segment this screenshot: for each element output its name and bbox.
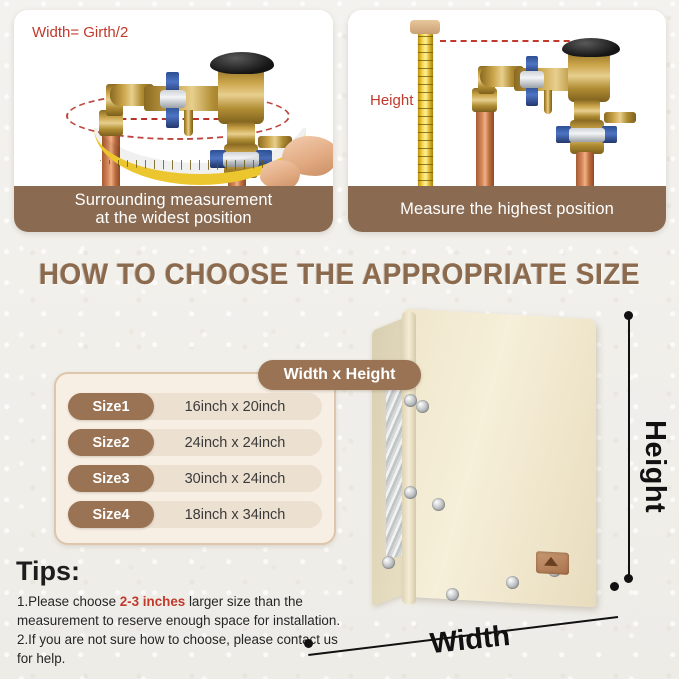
grommet — [432, 498, 445, 511]
height-panel-caption: Measure the highest position — [348, 186, 666, 232]
brass-union-nut — [574, 100, 600, 122]
blue-handle-bottom — [526, 86, 538, 106]
width-caption-line1: Surrounding measurement — [75, 191, 273, 209]
width-panel-caption: Surrounding measurement at the widest po… — [14, 186, 333, 232]
tips-line1-before: 1.Please choose — [17, 594, 120, 609]
brand-mark-icon — [544, 557, 558, 567]
table-row: Size4 18inch x 34inch — [68, 501, 322, 528]
brass-vent-body — [218, 66, 264, 124]
tips-line2: 2.If you are not sure how to choose, ple… — [17, 632, 338, 666]
product-photo — [358, 306, 643, 652]
width-dim-dot-right — [610, 582, 619, 591]
size-label: Size3 — [68, 465, 154, 492]
chrome-lower-collar — [569, 128, 605, 142]
table-row: Size3 30inch x 24inch — [68, 465, 322, 492]
chrome-valve-collar — [520, 71, 544, 88]
tips-highlight: 2-3 inches — [120, 594, 186, 609]
copper-pipe-left — [476, 106, 494, 186]
table-row: Size2 24inch x 24inch — [68, 429, 322, 456]
size-label: Size2 — [68, 429, 154, 456]
grommet — [382, 556, 395, 569]
size-table-header: Width x Height — [258, 360, 422, 390]
black-vent-cap — [210, 52, 274, 74]
height-measurement-panel: Height — [348, 10, 666, 232]
width-photo: Width= Girth/2 — [14, 10, 333, 186]
hand-left — [260, 160, 300, 186]
tips-body: 1.Please choose 2-3 inches larger size t… — [17, 592, 347, 668]
page-title: HOW TO CHOOSE THE APPROPRIATE SIZE — [24, 258, 655, 292]
backflow-preventer-assembly-vertical — [348, 10, 666, 186]
size-dimensions: 24inch x 24inch — [154, 435, 322, 451]
size-label: Size4 — [68, 501, 154, 528]
width-dim-dot-left — [304, 639, 313, 648]
height-dimension-label: Height — [638, 420, 671, 513]
chrome-valve-collar — [160, 90, 186, 108]
infographic-root: Width= Girth/2 — [0, 0, 679, 679]
grommet — [506, 576, 519, 589]
height-dim-dot-bottom — [624, 574, 633, 583]
width-measurement-panel: Width= Girth/2 — [14, 10, 333, 232]
brass-test-cock — [604, 112, 636, 123]
table-row: Size1 16inch x 20inch — [68, 393, 322, 420]
tips-heading: Tips: — [16, 556, 80, 587]
brass-drain-spout — [544, 90, 552, 114]
copper-pipe-right — [576, 152, 594, 186]
height-photo: Height — [348, 10, 666, 186]
grommet — [416, 400, 429, 413]
width-caption-line2: at the widest position — [75, 209, 273, 227]
height-dim-line — [628, 315, 630, 577]
size-label: Size1 — [68, 393, 154, 420]
size-table-card: Size1 16inch x 20inch Size2 24inch x 24i… — [54, 372, 336, 545]
cover-spine — [402, 312, 416, 605]
blue-handle-bottom — [166, 106, 179, 128]
size-dimensions: 18inch x 34inch — [154, 507, 322, 523]
black-vent-cap — [562, 38, 620, 57]
width-dimension-label: Width — [428, 620, 511, 661]
grommet — [404, 486, 417, 499]
brand-patch — [536, 551, 569, 575]
size-dimensions: 30inch x 24inch — [154, 471, 322, 487]
brass-vent-body — [568, 50, 610, 102]
grommet — [446, 588, 459, 601]
size-dimensions: 16inch x 20inch — [154, 399, 322, 415]
